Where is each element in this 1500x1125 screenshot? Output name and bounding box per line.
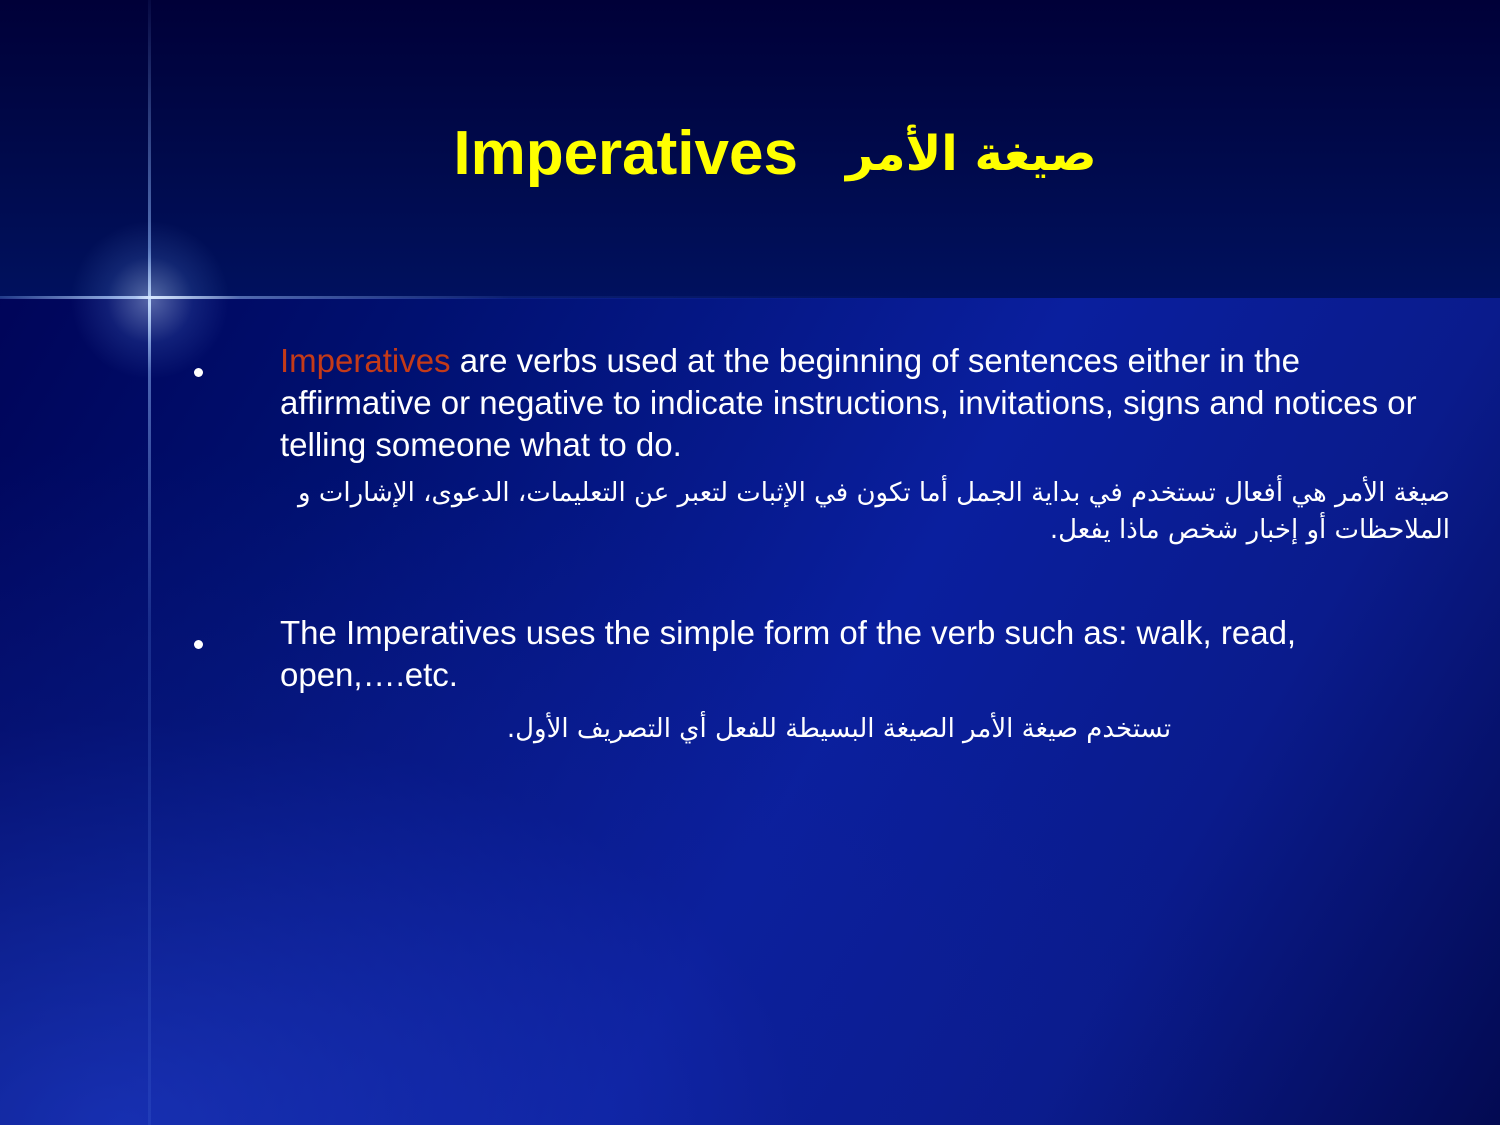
slide-canvas: Imperativesصيغة الأمر Imperatives are ve…: [0, 0, 1500, 1125]
bullet-arabic-text: تستخدم صيغة الأمر الصيغة البسيطة للفعل أ…: [280, 711, 1450, 749]
slide-title-english: Imperatives: [453, 119, 798, 188]
bullet-item: The Imperatives uses the simple form of …: [150, 612, 1450, 748]
bullet-english-rest: are verbs used at the beginning of sente…: [280, 342, 1417, 463]
bullet-highlight-term: Imperatives: [280, 342, 451, 379]
bullet-english-text: Imperatives are verbs used at the beginn…: [280, 340, 1450, 467]
bullet-english-text: The Imperatives uses the simple form of …: [280, 612, 1450, 696]
slide-title: Imperativesصيغة الأمر: [150, 118, 1400, 189]
bullet-point-icon: [194, 368, 203, 377]
bullet-point-icon: [194, 640, 203, 649]
bullet-item: Imperatives are verbs used at the beginn…: [150, 340, 1450, 550]
horizontal-line-decoration: [0, 296, 1500, 299]
slide-body: Imperatives are verbs used at the beginn…: [150, 340, 1450, 754]
bullet-arabic-text: صيغة الأمر هي أفعال تستخدم في بداية الجم…: [280, 475, 1450, 550]
slide-title-arabic: صيغة الأمر: [846, 126, 1097, 182]
